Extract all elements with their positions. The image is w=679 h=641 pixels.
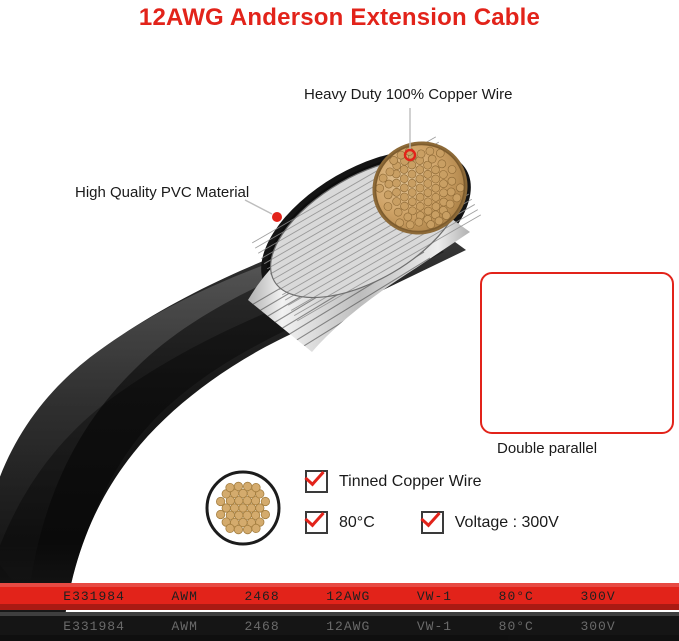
feature-label: Tinned Copper Wire: [339, 473, 482, 491]
checkmark-icon: [305, 511, 328, 534]
feature-label: Voltage : 300V: [455, 514, 559, 532]
print-token: 80°C: [499, 589, 534, 604]
print-token: 80°C: [499, 619, 534, 634]
print-token: 300V: [580, 589, 615, 604]
printed-strip-black-text: E331984 AWM 2468 12AWG VW-1 80°C 300V: [0, 612, 679, 641]
print-token: AWM: [171, 619, 197, 634]
print-token: VW-1: [417, 589, 452, 604]
feature-list: Tinned Copper Wire 80°C Voltage : 300V: [305, 470, 645, 552]
print-token: 12AWG: [326, 589, 370, 604]
callout-double-parallel: Double parallel: [497, 440, 597, 457]
copper-cross-section-icon: [205, 470, 281, 546]
print-token: 300V: [580, 619, 615, 634]
printed-strip-red-text: E331984 AWM 2468 12AWG VW-1 80°C 300V: [0, 583, 679, 610]
print-token: 2468: [244, 589, 279, 604]
print-token: 12AWG: [326, 619, 370, 634]
callout-copper-wire: Heavy Duty 100% Copper Wire: [304, 86, 512, 103]
feature-item-temperature: 80°C: [305, 511, 375, 534]
callout-pvc-material: High Quality PVC Material: [75, 184, 249, 201]
inset-detail-box: [480, 272, 674, 434]
print-token: AWM: [171, 589, 197, 604]
feature-item-voltage: Voltage : 300V: [421, 511, 559, 534]
feature-row-temp-voltage: 80°C Voltage : 300V: [305, 511, 645, 534]
print-token: E331984: [63, 589, 125, 604]
printed-strip-red: E331984 AWM 2468 12AWG VW-1 80°C 300V: [0, 583, 679, 610]
feature-item-tinned-copper-wire: Tinned Copper Wire: [305, 470, 645, 493]
print-token: E331984: [63, 619, 125, 634]
feature-label: 80°C: [339, 514, 375, 532]
product-image-canvas: 12AWG Anderson Extension Cable: [0, 0, 679, 641]
checkmark-icon: [421, 511, 444, 534]
print-token: VW-1: [417, 619, 452, 634]
checkmark-icon: [305, 470, 328, 493]
print-token: 2468: [244, 619, 279, 634]
printed-strip-black: E331984 AWM 2468 12AWG VW-1 80°C 300V: [0, 612, 679, 641]
